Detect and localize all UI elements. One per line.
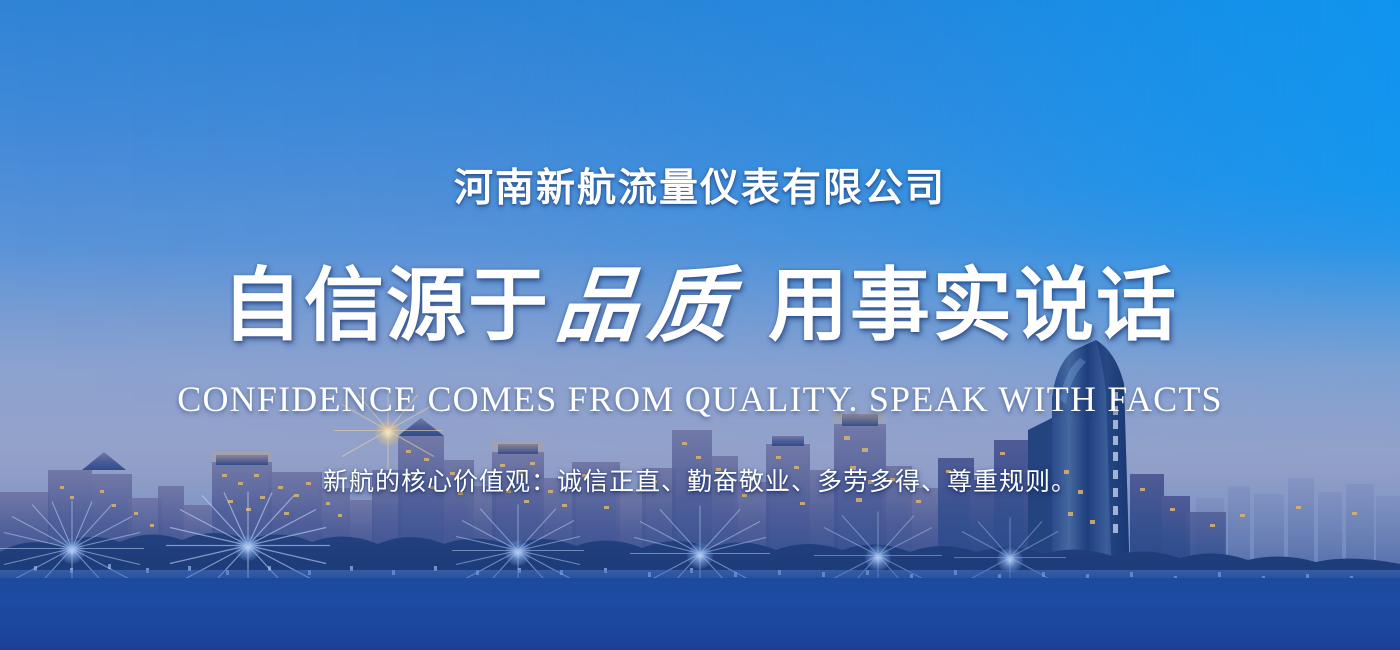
headline-part-3: 用事实说话 <box>768 266 1178 346</box>
headline-part-1: 自信源于 <box>222 266 550 346</box>
hero-banner: 河南新航流量仪表有限公司 自信源于 品质 用事实说话 CONFIDENCE CO… <box>0 0 1400 650</box>
english-subtitle: CONFIDENCE COMES FROM QUALITY. SPEAK WIT… <box>0 378 1400 420</box>
company-name: 河南新航流量仪表有限公司 <box>0 157 1400 213</box>
headline-brush-quality: 品质 <box>546 265 749 347</box>
headline-slogan: 自信源于 品质 用事实说话 <box>0 256 1400 356</box>
river-water-band <box>0 578 1400 650</box>
core-values-tagline: 新航的核心价值观：诚信正直、勤奋敬业、多劳多得、尊重规则。 <box>0 462 1400 498</box>
